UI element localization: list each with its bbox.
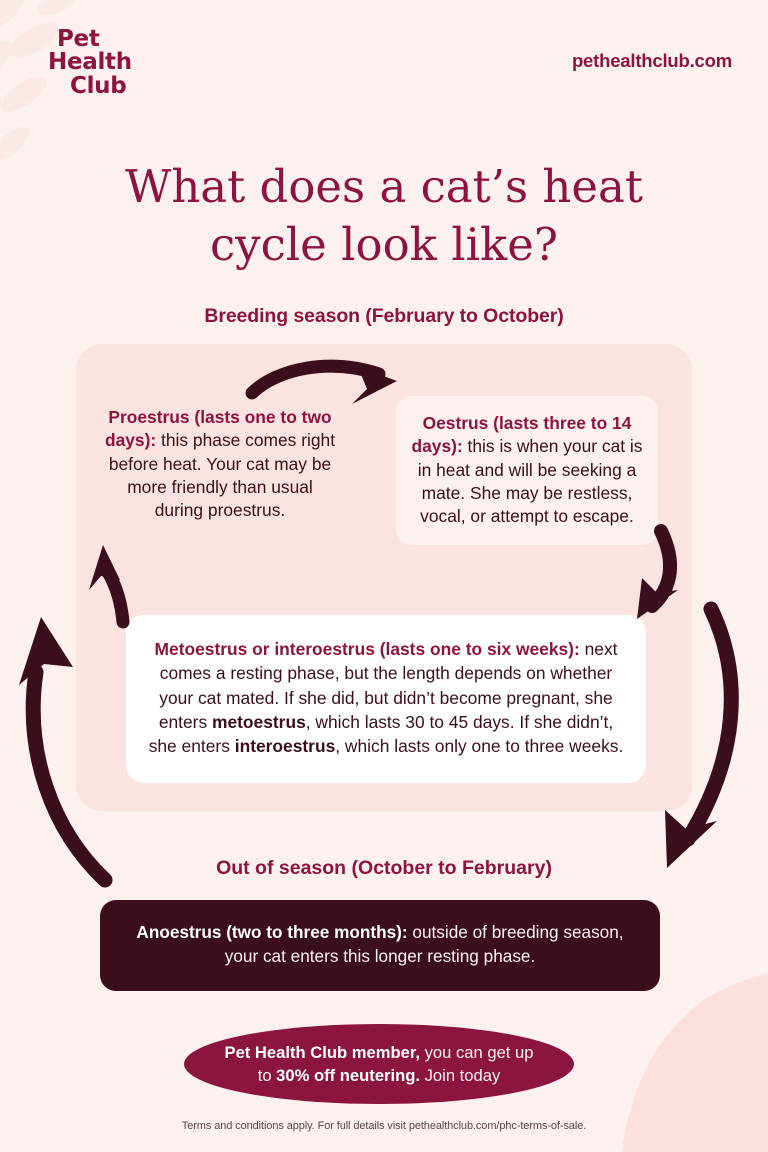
logo-line-3: Club <box>48 75 168 98</box>
terms-and-conditions: Terms and conditions apply. For full det… <box>0 1120 768 1132</box>
card-metoestrus-heading: Metoestrus or interoestrus (lasts one to… <box>155 639 580 659</box>
cta-bold-1: Pet Health Club member, <box>225 1043 421 1062</box>
logo-line-1: Pet <box>48 28 168 51</box>
page-title: What does a cat’s heat cycle look like? <box>0 158 768 273</box>
cta-text-2: Join today <box>420 1066 500 1085</box>
infographic-page: Pet Health Club pethealthclub.com What d… <box>0 0 768 1152</box>
out-of-season-label: Out of season (October to February) <box>0 857 768 880</box>
card-metoestrus: Metoestrus or interoestrus (lasts one to… <box>126 615 646 783</box>
card-proestrus: Proestrus (lasts one to two days): this … <box>98 404 342 525</box>
breeding-season-label: Breeding season (February to October) <box>0 305 768 328</box>
card-metoestrus-bold-2: interoestrus <box>235 736 336 756</box>
cta-bold-2: 30% off neutering. <box>276 1066 420 1085</box>
card-metoestrus-bold-1: metoestrus <box>212 712 306 732</box>
brand-logo[interactable]: Pet Health Club <box>48 28 168 98</box>
cta-membership-badge[interactable]: Pet Health Club member, you can get up t… <box>184 1024 574 1104</box>
cta-text: Pet Health Club member, you can get up t… <box>222 1041 536 1087</box>
card-anoestrus-heading: Anoestrus (two to three months): <box>136 922 407 942</box>
logo-line-2: Health <box>48 51 168 74</box>
card-metoestrus-body-3: , which lasts only one to three weeks. <box>335 736 623 756</box>
card-oestrus: Oestrus (lasts three to 14 days): this i… <box>396 396 658 545</box>
card-anoestrus: Anoestrus (two to three months): outside… <box>100 900 660 991</box>
site-url[interactable]: pethealthclub.com <box>572 50 732 72</box>
